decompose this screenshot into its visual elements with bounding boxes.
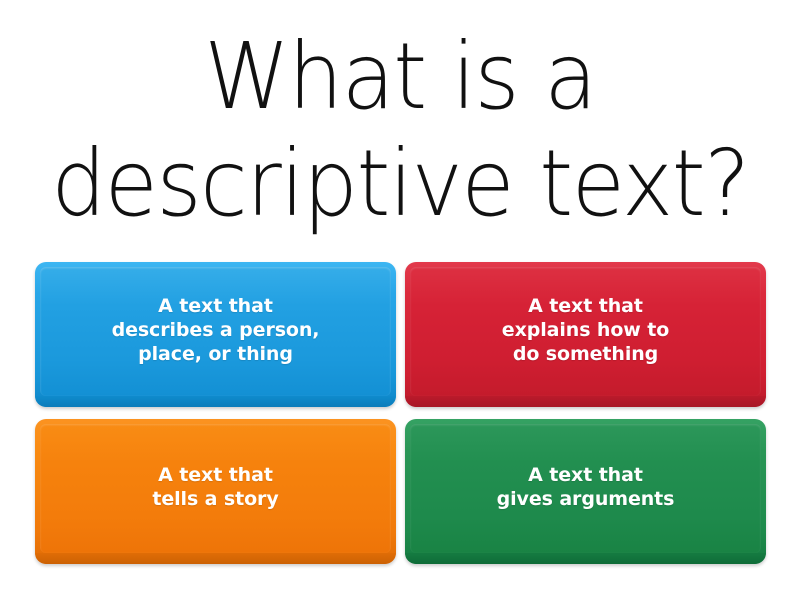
question-line-1: What is a — [204, 23, 596, 130]
question-line-2: descriptive text? — [51, 130, 749, 237]
answer-options-grid: A text that describes a person, place, o… — [0, 262, 800, 600]
question-text: What is adescriptive text? — [37, 24, 763, 237]
question-area: What is adescriptive text? — [0, 0, 800, 262]
answer-option-b[interactable]: A text that explains how to do something — [405, 262, 766, 407]
answer-option-a-label: A text that describes a person, place, o… — [112, 294, 320, 366]
answer-option-b-label: A text that explains how to do something — [502, 294, 669, 366]
answer-option-c[interactable]: A text that tells a story — [35, 419, 396, 564]
answer-option-d-label: A text that gives arguments — [497, 463, 675, 511]
answer-option-d[interactable]: A text that gives arguments — [405, 419, 766, 564]
quiz-question-screen: What is adescriptive text? A text that d… — [0, 0, 800, 600]
answer-option-a[interactable]: A text that describes a person, place, o… — [35, 262, 396, 407]
answer-option-c-label: A text that tells a story — [152, 463, 278, 511]
